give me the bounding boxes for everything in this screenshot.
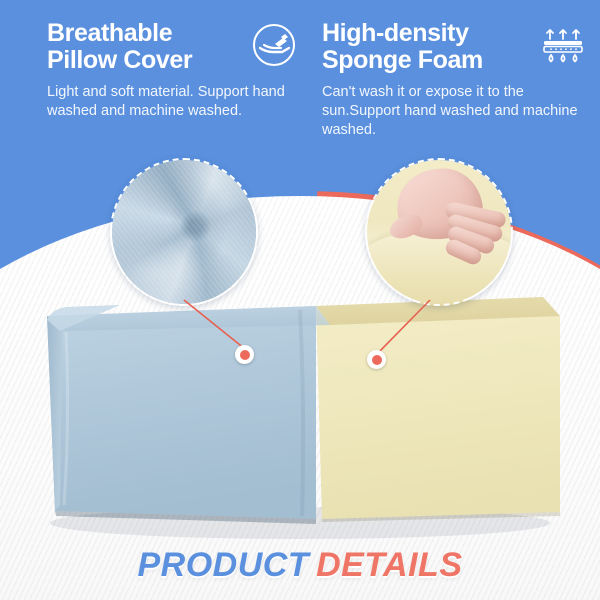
feature-body-pillow-cover: Light and soft material. Support hand wa… [47,83,297,121]
hand-holding-fabric-icon [251,22,297,73]
product-details-banner: PRODUCTDETAILS [0,546,600,584]
foam-marker-dot[interactable] [367,350,386,369]
infographic-canvas: Breathable Pillow Cover Light and soft m… [0,0,600,600]
feature-block-sponge-foam: High-density Sponge Foam [322,20,587,140]
feature-title-pillow-cover: Breathable Pillow Cover [47,20,192,74]
feature-title-line2: Pillow Cover [47,46,192,74]
feature-body-sponge-foam: Can't wash it or expose it to the sun.Su… [322,83,587,140]
feature-title-sponge-foam: High-density Sponge Foam [322,20,483,74]
cover-marker-dot[interactable] [235,345,254,364]
banner-word-product: PRODUCT [137,546,309,584]
banner-word-details: DETAILS [316,546,462,584]
feature-block-pillow-cover: Breathable Pillow Cover Light and soft m… [47,20,297,121]
feature-title-line1: Breathable [47,19,172,47]
feature-title-line2: Sponge Foam [322,46,483,74]
foam-layer-breathability-icon [539,22,587,73]
feature-title-line1: High-density [322,19,469,47]
